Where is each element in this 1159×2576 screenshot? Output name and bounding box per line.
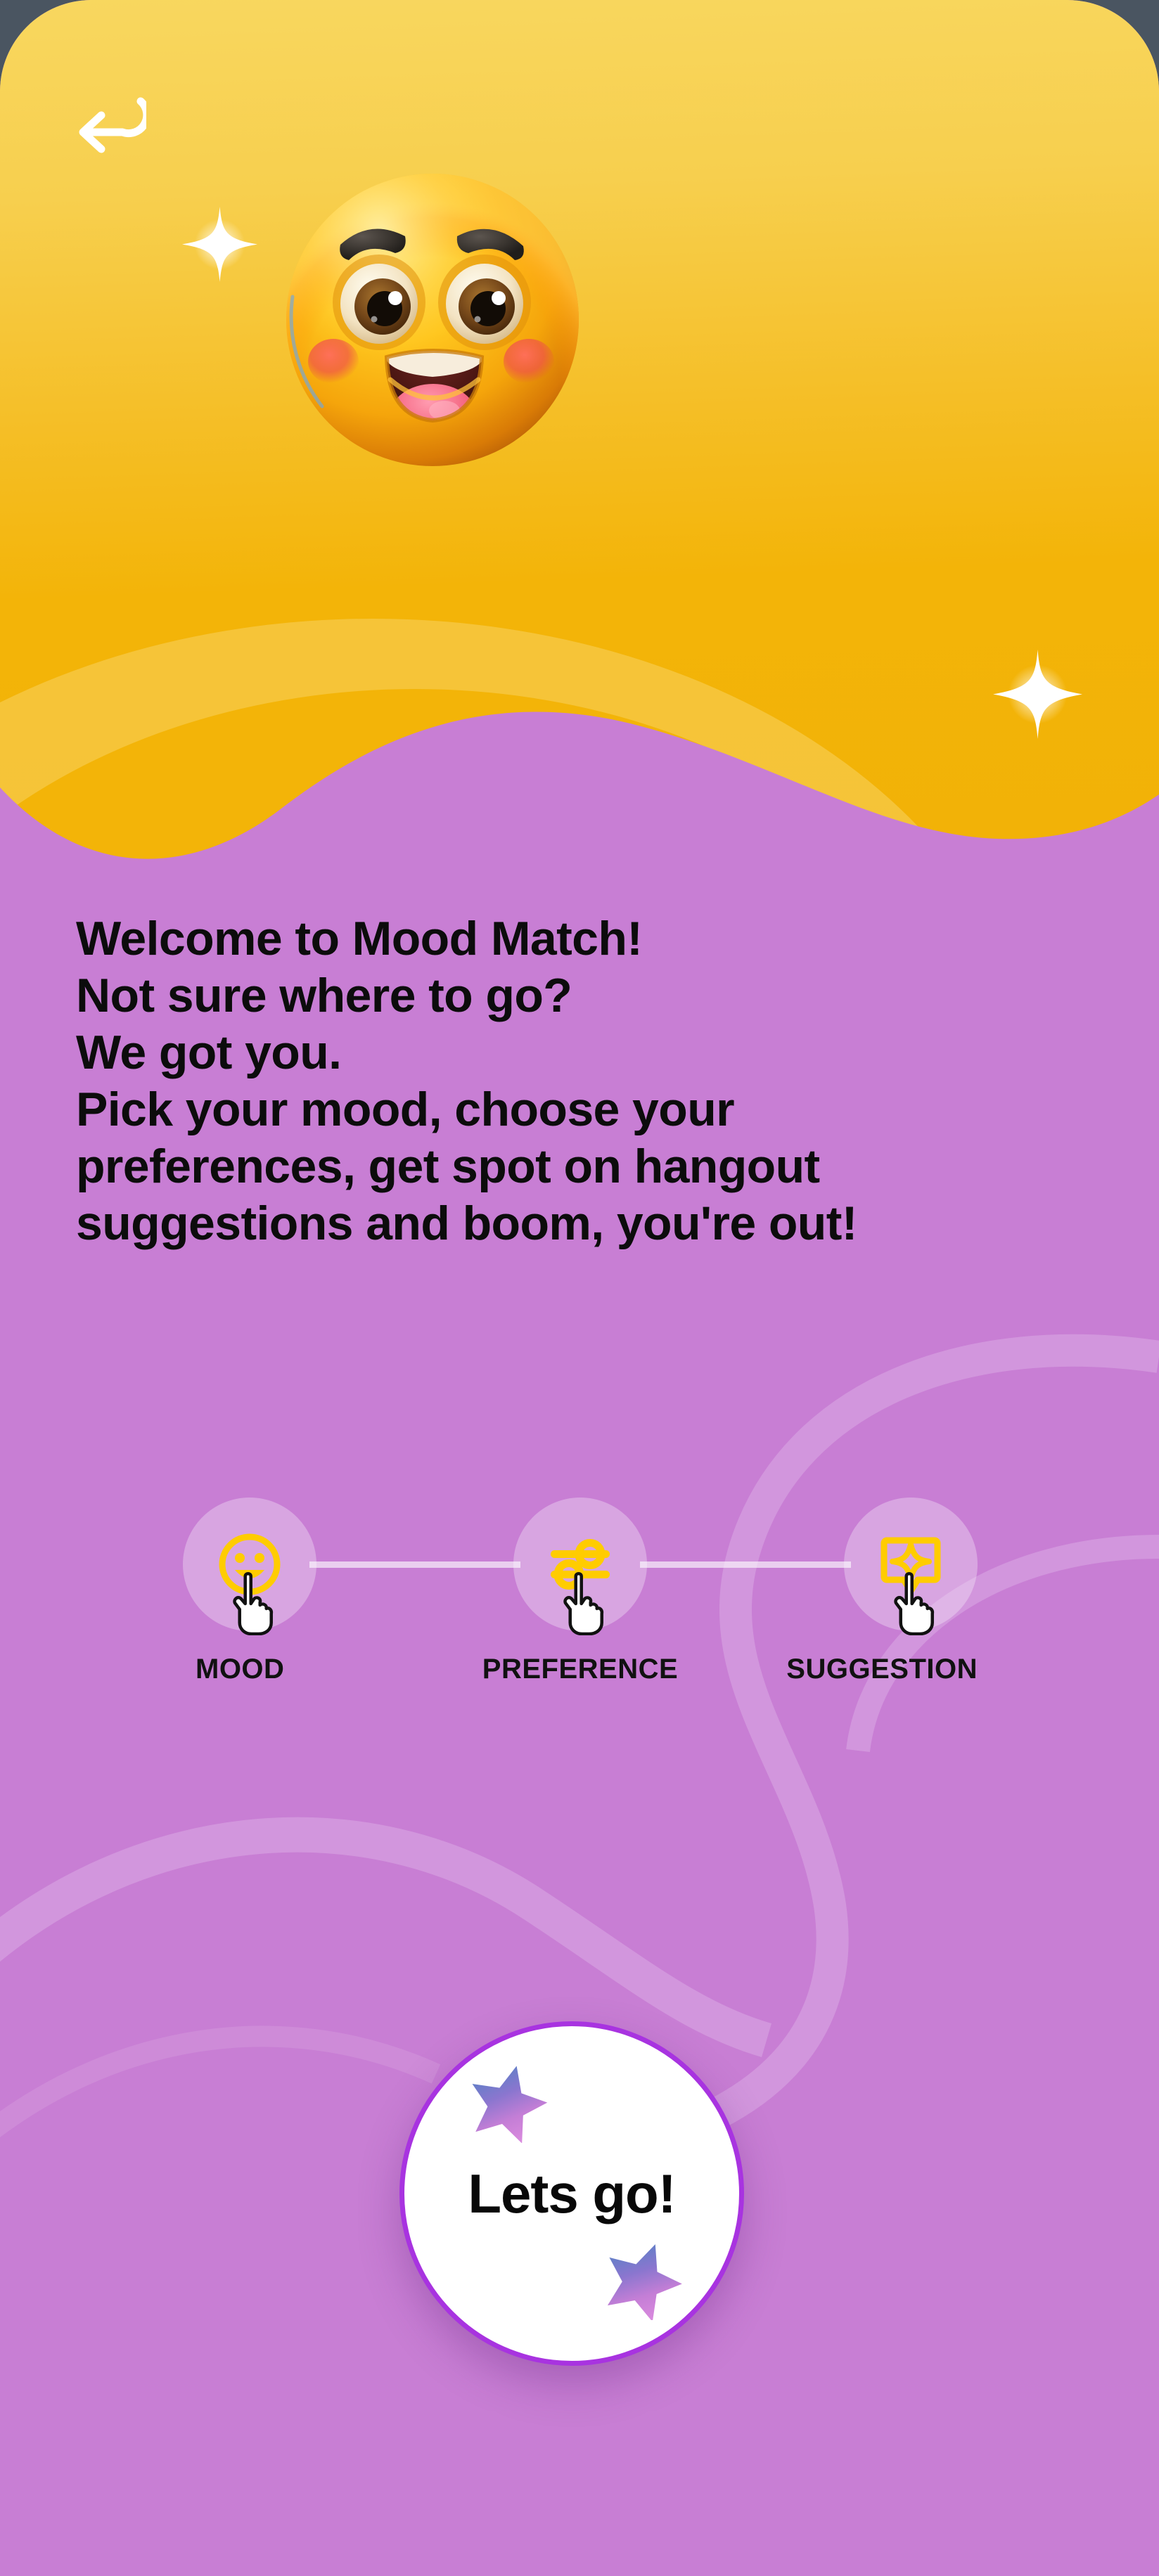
headline-line-5: preferences, get spot on hangout (76, 1138, 1117, 1195)
headline-block: Welcome to Mood Match! Not sure where to… (76, 910, 1117, 1251)
hero-emoji (281, 169, 584, 471)
onboarding-stepper: MOOD PREFERENCE SUGGESTION (183, 1490, 978, 1730)
pointing-hand-cursor-icon (561, 1571, 605, 1635)
pointing-hand-cursor-icon (892, 1571, 935, 1635)
stepper-nodes-row (183, 1490, 978, 1638)
step-label-suggestion: SUGGESTION (781, 1654, 978, 1685)
headline-line-3: We got you. (76, 1024, 1117, 1081)
lets-go-button[interactable]: Lets go! (399, 2021, 744, 2366)
hero-section (0, 0, 1159, 872)
sparkle-decoration-top (179, 204, 260, 285)
gradient-star-icon (601, 2237, 684, 2320)
headline-line-4: Pick your mood, choose your (76, 1081, 1117, 1138)
lets-go-label: Lets go! (468, 2162, 675, 2226)
headline-line-6: suggestions and boom, you're out! (76, 1195, 1117, 1252)
gradient-star-icon (466, 2060, 549, 2143)
back-arrow-icon (73, 90, 146, 153)
stepper-connector-1 (309, 1561, 520, 1568)
step-node-mood[interactable] (183, 1498, 316, 1631)
four-point-sparkle-icon (179, 204, 260, 285)
step-node-preference[interactable] (513, 1498, 647, 1631)
step-node-suggestion[interactable] (844, 1498, 978, 1631)
headline-line-2: Not sure where to go? (76, 967, 1117, 1024)
back-button[interactable] (73, 90, 146, 153)
step-label-mood: MOOD (183, 1654, 380, 1685)
headline-line-1: Welcome to Mood Match! (76, 910, 1117, 967)
step-label-preference: PREFERENCE (482, 1654, 679, 1685)
stepper-labels-row: MOOD PREFERENCE SUGGESTION (183, 1654, 978, 1685)
app-screen: Welcome to Mood Match! Not sure where to… (0, 0, 1159, 2576)
stepper-connector-2 (640, 1561, 851, 1568)
hero-wave-divider (0, 577, 1159, 872)
pointing-hand-cursor-icon (231, 1571, 274, 1635)
